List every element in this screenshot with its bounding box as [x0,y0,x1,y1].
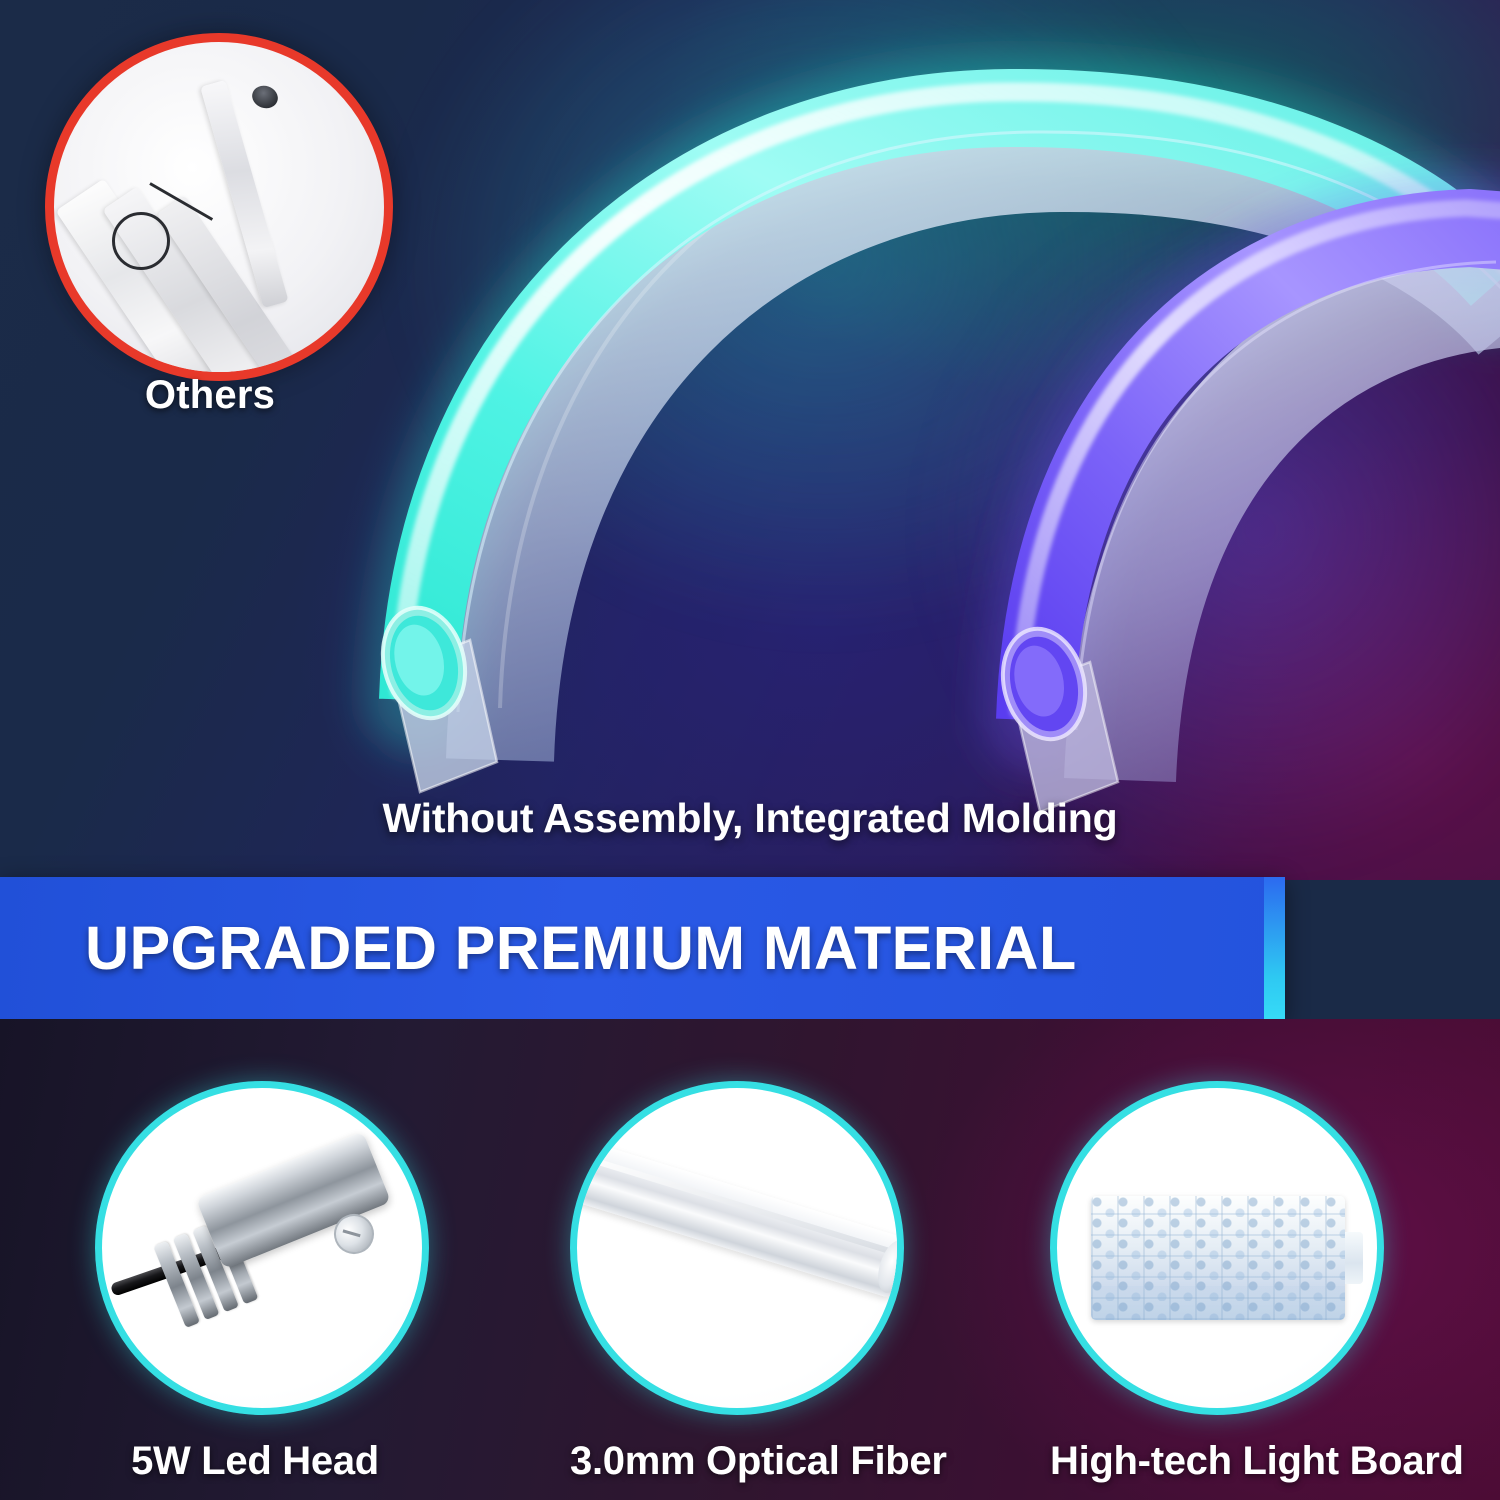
hero-tagline: Without Assembly, Integrated Molding [0,795,1500,842]
feature-label: High-tech Light Board [1050,1439,1370,1484]
others-rod-cap-icon [249,83,281,112]
light-board-icon [1050,1081,1384,1415]
features-section: 5W Led Head 3.0mm Optical Fiber High-te [0,1019,1500,1500]
fiber-groove [576,1152,904,1258]
headline-banner: UPGRADED PREMIUM MATERIAL [0,877,1285,1019]
feature-item-light-board: High-tech Light Board [1050,1081,1370,1484]
others-callout-ring-icon [112,212,170,270]
feature-label: 3.0mm Optical Fiber [570,1439,890,1484]
others-comparison-badge [45,33,393,381]
fiber-strip [570,1139,904,1299]
feature-item-optical-fiber: 3.0mm Optical Fiber [570,1081,890,1484]
optical-fiber-icon [570,1081,904,1415]
feature-label: 5W Led Head [95,1439,415,1484]
product-feature-graphic: Others Without Assembly, Integrated Mold… [0,0,1500,1500]
hero-section: Others Without Assembly, Integrated Mold… [0,0,1500,880]
light-board-base [1091,1286,1345,1320]
others-label: Others [0,373,420,418]
led-head-icon [95,1081,429,1415]
feature-item-led-head: 5W Led Head [95,1081,415,1484]
banner-accent-stripe [1264,877,1285,1019]
light-board-tab [1345,1232,1363,1284]
light-board-pcb [1091,1196,1345,1320]
banner-title: UPGRADED PREMIUM MATERIAL [85,913,1077,983]
